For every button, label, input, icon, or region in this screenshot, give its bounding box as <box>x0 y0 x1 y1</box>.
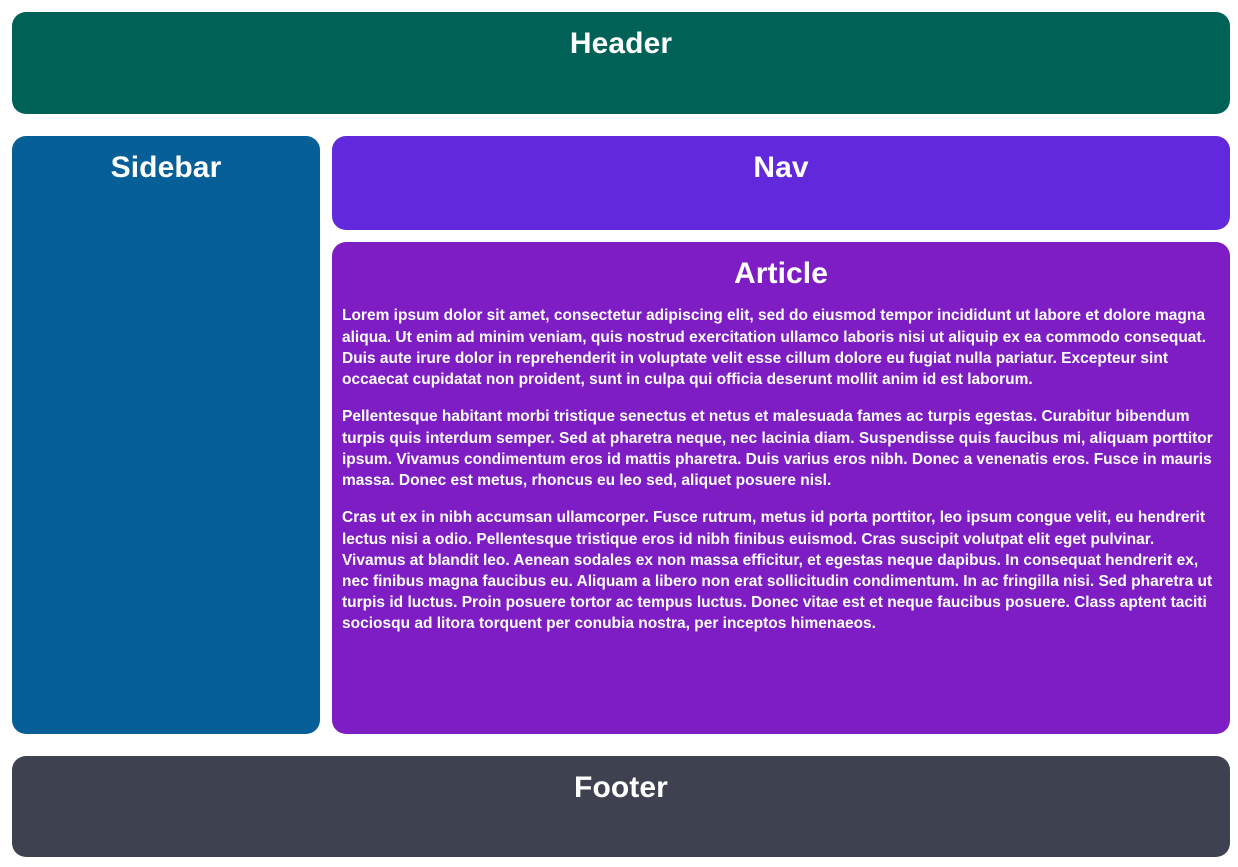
article-paragraph: Pellentesque habitant morbi tristique se… <box>342 406 1220 491</box>
header-region: Header <box>12 12 1230 114</box>
article-body: Lorem ipsum dolor sit amet, consectetur … <box>340 305 1222 634</box>
layout-demo-page: Header Sidebar Nav Article Lorem ipsum d… <box>0 0 1238 867</box>
article-title: Article <box>340 242 1222 291</box>
sidebar-title: Sidebar <box>12 136 320 185</box>
sidebar-region: Sidebar <box>12 136 320 734</box>
header-title: Header <box>12 12 1230 61</box>
article-paragraph: Lorem ipsum dolor sit amet, consectetur … <box>342 305 1220 390</box>
nav-region: Nav <box>332 136 1230 230</box>
footer-title: Footer <box>12 756 1230 805</box>
article-paragraph: Cras ut ex in nibh accumsan ullamcorper.… <box>342 507 1220 634</box>
nav-title: Nav <box>332 136 1230 185</box>
footer-region: Footer <box>12 756 1230 857</box>
article-region: Article Lorem ipsum dolor sit amet, cons… <box>332 242 1230 734</box>
